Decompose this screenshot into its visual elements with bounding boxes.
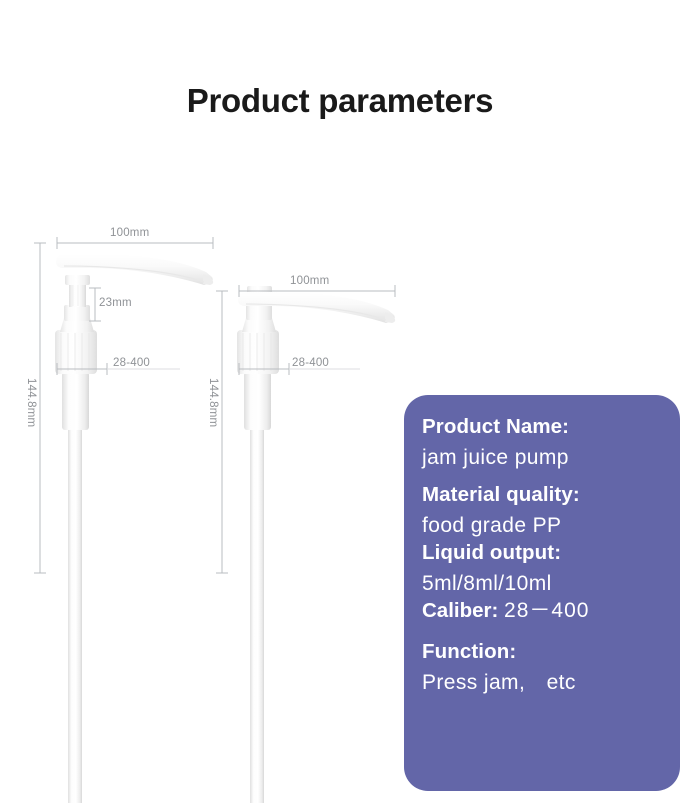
- spec-label-caliber: Caliber:: [422, 599, 498, 622]
- spec-value-material-quality: food grade PP: [422, 515, 680, 536]
- right-total-height-label: 144.8mm: [207, 378, 219, 427]
- product-specification-panel: Product Name: jam juice pump Material qu…: [404, 395, 680, 791]
- spec-value-caliber: 28－400: [504, 599, 589, 622]
- spec-row-caliber: Caliber: 28－400: [422, 600, 680, 622]
- left-total-height-label: 144.8mm: [25, 378, 37, 427]
- left-width-label: 100mm: [110, 227, 149, 239]
- left-pump-graphic: [55, 254, 213, 803]
- spec-label-product-name: Product Name:: [422, 417, 680, 438]
- right-caliber-label: 28-400: [292, 357, 329, 369]
- spec-label-liquid-output: Liquid output:: [422, 543, 680, 564]
- spec-value-liquid-output: 5ml/8ml/10ml: [422, 573, 680, 594]
- right-height-dimension: [216, 291, 228, 573]
- spec-value-function: Press jam, etc: [422, 672, 680, 693]
- right-width-label: 100mm: [290, 275, 329, 287]
- spec-label-function: Function:: [422, 642, 680, 663]
- left-caliber-label: 28-400: [113, 357, 150, 369]
- spec-label-material-quality: Material quality:: [422, 485, 680, 506]
- left-neck-height-label: 23mm: [99, 297, 132, 309]
- spec-value-product-name: jam juice pump: [422, 447, 680, 468]
